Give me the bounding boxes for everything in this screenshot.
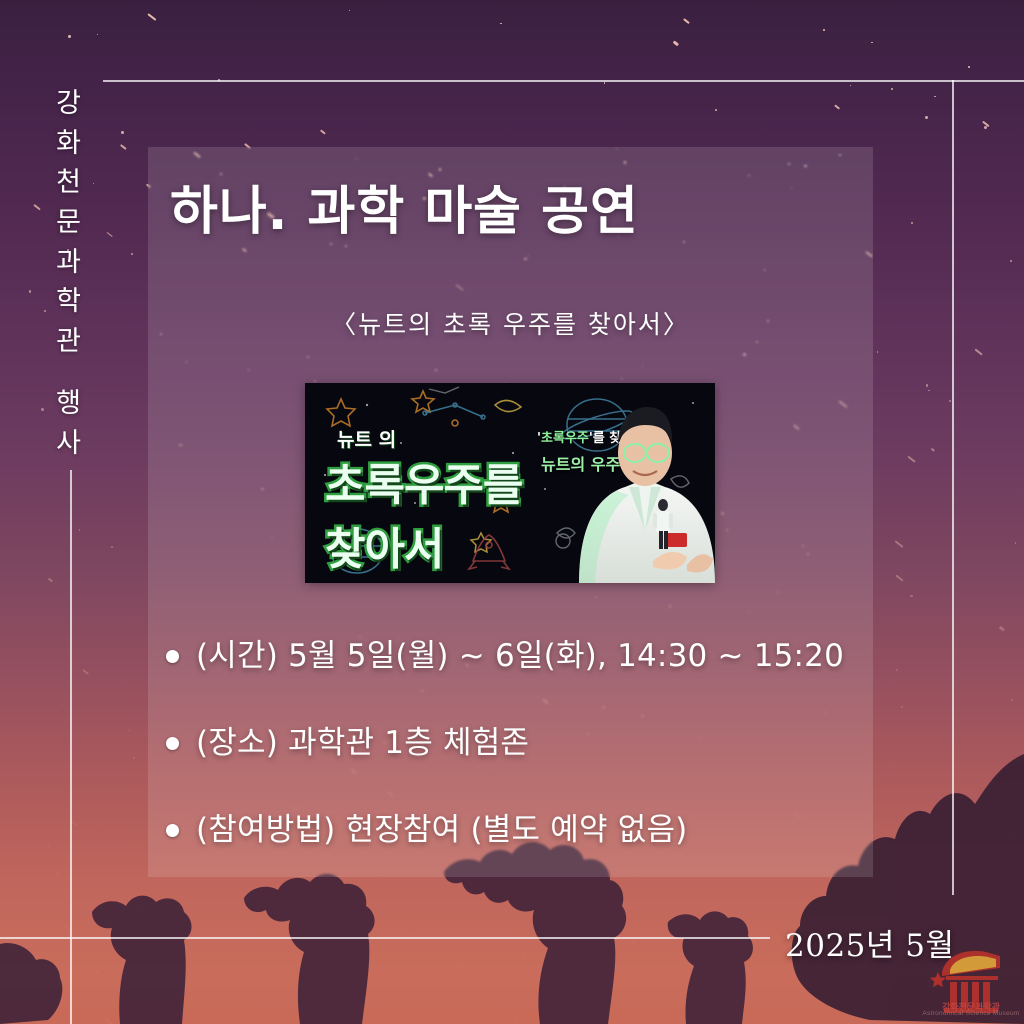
show-thumbnail[interactable]: 뉴트 의 초록우주를 찾아서 '초록우주'를 찾기 위한 뉴트의 우주여행! <box>305 383 715 583</box>
detail-list: (시간) 5월 5일(월) ~ 6일(화), 14:30 ~ 15:20 (장소… <box>166 637 853 897</box>
side-title-char: 사 <box>46 424 92 464</box>
bullet-dot-icon <box>166 650 179 663</box>
page-subtitle: 〈뉴트의 초록 우주를 찾아서〉 <box>148 305 873 341</box>
side-title-gap <box>46 362 92 384</box>
side-title-char: 강 <box>46 84 92 124</box>
page-title: 하나. 과학 마술 공연 <box>170 169 639 244</box>
list-item: (참여방법) 현장참여 (별도 예약 없음) <box>166 811 853 850</box>
list-item: (시간) 5월 5일(월) ~ 6일(화), 14:30 ~ 15:20 <box>166 637 853 676</box>
side-title-char: 과 <box>46 243 92 283</box>
side-title-char: 화 <box>46 124 92 164</box>
thumbnail-headline: 뉴트 의 초록우주를 찾아서 <box>319 423 569 553</box>
list-item-label: (장소) 과학관 1층 체험존 <box>196 724 529 763</box>
side-title-char: 문 <box>46 203 92 243</box>
list-item-label: (시간) 5월 5일(월) ~ 6일(화), 14:30 ~ 15:20 <box>196 637 844 676</box>
side-title-char: 천 <box>46 163 92 203</box>
thumbnail-headline-small: 뉴트 의 <box>337 425 396 452</box>
bullet-dot-icon <box>166 737 179 750</box>
content-card: 하나. 과학 마술 공연 〈뉴트의 초록 우주를 찾아서〉 <box>148 147 873 877</box>
rule-top-horizontal <box>103 80 1024 82</box>
rule-left-vertical <box>70 470 72 1024</box>
rule-right-vertical <box>952 80 954 895</box>
thumbnail-headline-big: 초록우주를 찾아서 <box>325 449 569 577</box>
list-item: (장소) 과학관 1층 체험존 <box>166 724 853 763</box>
side-title-char: 행 <box>46 384 92 424</box>
side-title-char: 학 <box>46 282 92 322</box>
side-title-char: 관 <box>46 322 92 362</box>
list-item-label: (참여방법) 현장참여 (별도 예약 없음) <box>196 811 687 850</box>
presenter-photo <box>569 383 715 583</box>
poster-root: 강 화 천 문 과 학 관 행 사 하나. 과학 마술 공연 〈뉴트의 초록 우… <box>0 0 1024 1024</box>
bullet-dot-icon <box>166 824 179 837</box>
side-title: 강 화 천 문 과 학 관 행 사 <box>46 84 92 463</box>
logo-subtitle: Astronomical Science Museum <box>918 1010 1024 1017</box>
rule-bottom-horizontal <box>0 937 770 939</box>
